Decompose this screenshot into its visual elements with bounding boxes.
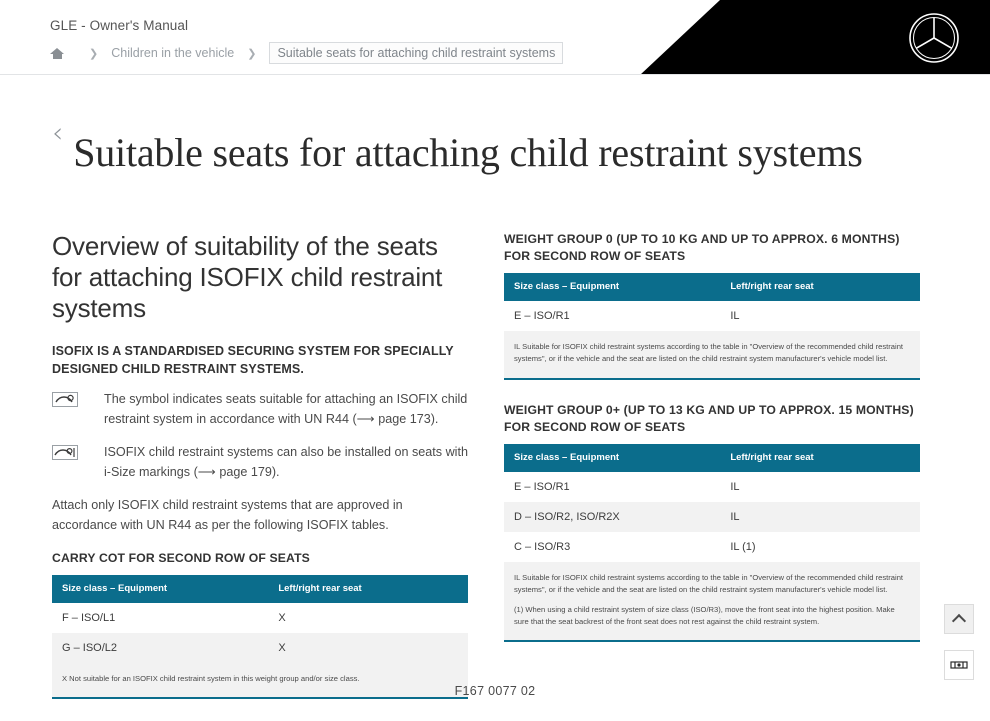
left-paragraph: Attach only ISOFIX child restraint syste… <box>52 496 468 535</box>
cell-rear-seat: IL <box>720 301 920 331</box>
weight-group-0-table: Size class – Equipment Left/right rear s… <box>504 273 920 377</box>
breadcrumb-parent-link[interactable]: Children in the vehicle <box>111 46 234 60</box>
table-footnote-cell: IL Suitable for ISOFIX child restraint s… <box>504 562 920 640</box>
column-header-size-class: Size class – Equipment <box>504 444 720 472</box>
weight-group-0-table-title: WEIGHT GROUP 0 (UP TO 10 KG AND UP TO AP… <box>504 231 920 266</box>
table-row: F – ISO/L1 X <box>52 603 468 633</box>
table-row: E – ISO/R1 IL <box>504 301 920 331</box>
footnote-text: (1) When using a child restraint system … <box>514 604 910 629</box>
cell-rear-seat: IL <box>720 472 920 502</box>
breadcrumb-separator-1: ❯ <box>89 47 98 60</box>
table-bottom-rule <box>504 640 920 642</box>
content-columns: Overview of suitability of the seats for… <box>0 203 990 721</box>
table-row: E – ISO/R1 IL <box>504 472 920 502</box>
column-header-rear-seat: Left/right rear seat <box>720 273 920 301</box>
column-header-rear-seat: Left/right rear seat <box>720 444 920 472</box>
scroll-to-top-button[interactable] <box>944 604 974 634</box>
left-column: Overview of suitability of the seats for… <box>52 231 468 721</box>
mercedes-benz-star-icon <box>908 12 960 64</box>
cell-rear-seat: X <box>268 633 468 663</box>
symbol-text-isofix: The symbol indicates seats suitable for … <box>104 390 468 429</box>
weight-group-0plus-table-title: WEIGHT GROUP 0+ (UP TO 13 KG AND UP TO A… <box>504 402 920 437</box>
carry-cot-table-block: CARRY COT FOR SECOND ROW OF SEATS Size c… <box>52 550 468 699</box>
section-heading: Overview of suitability of the seats for… <box>52 231 468 325</box>
home-icon[interactable] <box>50 47 64 59</box>
cell-size-class: E – ISO/R1 <box>504 301 720 331</box>
breadcrumb-current: Suitable seats for attaching child restr… <box>269 42 563 64</box>
carry-cot-table: Size class – Equipment Left/right rear s… <box>52 575 468 697</box>
page-title: Suitable seats for attaching child restr… <box>73 130 862 176</box>
weight-group-0-table-block: WEIGHT GROUP 0 (UP TO 10 KG AND UP TO AP… <box>504 231 920 380</box>
page-title-row: ‹ Suitable seats for attaching child res… <box>52 103 990 203</box>
i-size-symbol-icon <box>52 445 78 460</box>
symbol-row-isofix: The symbol indicates seats suitable for … <box>52 390 468 429</box>
table-footnote-row: IL Suitable for ISOFIX child restraint s… <box>504 331 920 378</box>
cell-size-class: F – ISO/L1 <box>52 603 268 633</box>
footnote-text: IL Suitable for ISOFIX child restraint s… <box>514 341 910 366</box>
back-chevron-icon[interactable]: ‹ <box>52 119 63 147</box>
page-header: GLE - Owner's Manual ❯ Children in the v… <box>0 0 990 75</box>
symbol-text-isize: ISOFIX child restraint systems can also … <box>104 443 468 482</box>
cell-rear-seat: IL (1) <box>720 532 920 562</box>
table-header-row: Size class – Equipment Left/right rear s… <box>504 273 920 301</box>
cell-size-class: E – ISO/R1 <box>504 472 720 502</box>
weight-group-0plus-table-block: WEIGHT GROUP 0+ (UP TO 13 KG AND UP TO A… <box>504 402 920 643</box>
table-bottom-rule <box>504 378 920 380</box>
footnote-text: IL Suitable for ISOFIX child restraint s… <box>514 572 910 597</box>
right-column: WEIGHT GROUP 0 (UP TO 10 KG AND UP TO AP… <box>504 231 920 721</box>
table-footnote-cell: IL Suitable for ISOFIX child restraint s… <box>504 331 920 378</box>
breadcrumb: ❯ Children in the vehicle ❯ Suitable sea… <box>50 42 563 64</box>
cell-rear-seat: X <box>268 603 468 633</box>
table-footnote-row: IL Suitable for ISOFIX child restraint s… <box>504 562 920 640</box>
cell-size-class: C – ISO/R3 <box>504 532 720 562</box>
symbol-row-isize: ISOFIX child restraint systems can also … <box>52 443 468 482</box>
column-header-rear-seat: Left/right rear seat <box>268 575 468 603</box>
vehicle-tool-icon <box>950 658 968 672</box>
sub-heading: ISOFIX IS A STANDARDISED SECURING SYSTEM… <box>52 342 468 378</box>
cell-size-class: D – ISO/R2, ISO/R2X <box>504 502 720 532</box>
manual-title: GLE - Owner's Manual <box>50 18 188 33</box>
chevron-up-icon <box>952 614 966 628</box>
table-row: C – ISO/R3 IL (1) <box>504 532 920 562</box>
weight-group-0plus-table: Size class – Equipment Left/right rear s… <box>504 444 920 640</box>
table-row: G – ISO/L2 X <box>52 633 468 663</box>
table-row: D – ISO/R2, ISO/R2X IL <box>504 502 920 532</box>
table-header-row: Size class – Equipment Left/right rear s… <box>52 575 468 603</box>
column-header-size-class: Size class – Equipment <box>52 575 268 603</box>
figure-code: F167 0077 02 <box>0 684 990 698</box>
cell-rear-seat: IL <box>720 502 920 532</box>
isofix-symbol-icon <box>52 392 78 407</box>
carry-cot-table-title: CARRY COT FOR SECOND ROW OF SEATS <box>52 550 468 567</box>
cell-size-class: G – ISO/L2 <box>52 633 268 663</box>
vehicle-tool-button[interactable] <box>944 650 974 680</box>
header-divider <box>0 74 990 75</box>
table-header-row: Size class – Equipment Left/right rear s… <box>504 444 920 472</box>
breadcrumb-separator-2: ❯ <box>247 47 256 60</box>
column-header-size-class: Size class – Equipment <box>504 273 720 301</box>
